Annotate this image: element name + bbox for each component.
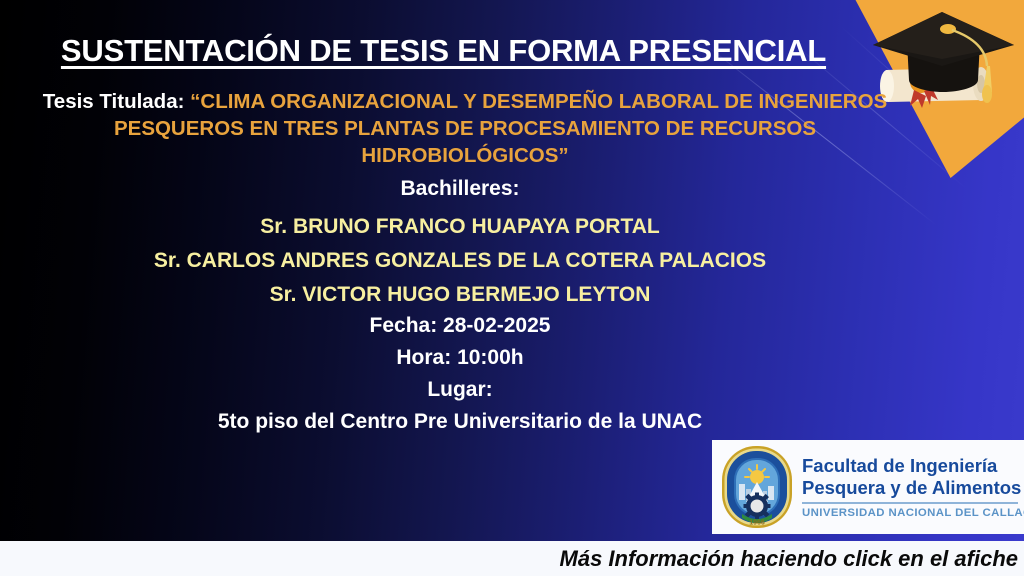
unac-seal-icon: 1966	[720, 444, 794, 530]
thesis-lead-label: Tesis Titulada:	[43, 90, 190, 113]
list-item: Sr. CARLOS ANDRES GONZALES DE LA COTERA …	[0, 244, 920, 278]
page-title: SUSTENTACIÓN DE TESIS EN FORMA PRESENCIA…	[36, 33, 851, 69]
faculty-name-line2: Pesquera y de Alimentos	[802, 477, 1018, 499]
divider	[802, 502, 1018, 504]
candidate-list: Sr. BRUNO FRANCO HUAPAYA PORTAL Sr. CARL…	[0, 210, 920, 312]
thesis-title-block: Tesis Titulada: “CLIMA ORGANIZACIONAL Y …	[10, 88, 920, 169]
event-date: Fecha: 28-02-2025	[0, 310, 920, 342]
event-time: Hora: 10:00h	[0, 342, 920, 374]
faculty-logo-text: Facultad de Ingeniería Pesquera y de Ali…	[802, 455, 1018, 519]
faculty-name-line1: Facultad de Ingeniería	[802, 455, 1018, 477]
thesis-defense-poster[interactable]: SUSTENTACIÓN DE TESIS EN FORMA PRESENCIA…	[0, 0, 1024, 576]
event-venue-label: Lugar:	[0, 374, 920, 406]
event-venue-value: 5to piso del Centro Pre Universitario de…	[0, 406, 920, 438]
thesis-title-text: “CLIMA ORGANIZACIONAL Y DESEMPEÑO LABORA…	[114, 90, 887, 167]
event-details: Fecha: 28-02-2025 Hora: 10:00h Lugar: 5t…	[0, 310, 920, 438]
list-item: Sr. VICTOR HUGO BERMEJO LEYTON	[0, 278, 920, 312]
svg-text:1966: 1966	[749, 520, 765, 527]
footer-bar[interactable]: Más Información haciendo click en el afi…	[0, 541, 1024, 576]
list-item: Sr. BRUNO FRANCO HUAPAYA PORTAL	[0, 210, 920, 244]
bachilleres-label: Bachilleres:	[0, 177, 920, 201]
faculty-logo[interactable]: 1966 Facultad de Ingeniería Pesquera y d…	[712, 440, 1024, 534]
university-name: UNIVERSIDAD NACIONAL DEL CALLAO	[802, 507, 1018, 519]
more-info-cta[interactable]: Más Información haciendo click en el afi…	[560, 546, 1024, 572]
